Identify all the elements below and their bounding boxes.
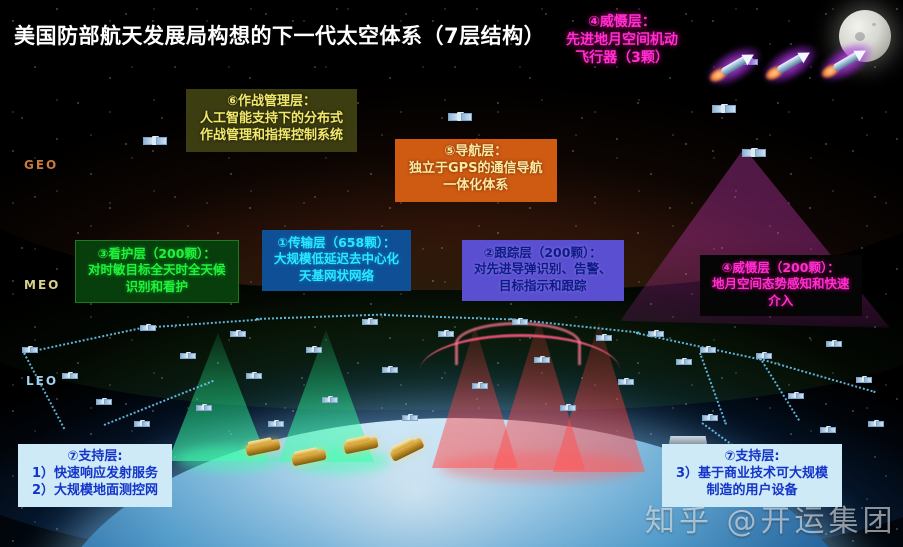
callout-line: 介入 (712, 293, 850, 309)
tracking-ground-glow (440, 452, 640, 482)
satellite-icon (856, 376, 872, 382)
satellite-icon (742, 148, 766, 157)
callout-line: 大规模低延迟去中心化 (274, 251, 399, 267)
callout-battle-management-layer[interactable]: ⑥作战管理层： 人工智能支持下的分布式 作战管理和指挥控制系统 (186, 89, 357, 152)
satellite-icon (322, 396, 338, 402)
callout-line: 一体化体系 (409, 178, 543, 195)
callout-custody-layer[interactable]: ③看护层（200颗）： 对时敏目标全天时全天候 识别和看护 (75, 240, 239, 303)
satellite-icon (246, 372, 262, 378)
callout-heading: ⑦支持层: (32, 449, 158, 466)
satellite-icon (712, 104, 736, 113)
callout-line: 识别和看护 (88, 279, 226, 295)
satellite-icon (868, 420, 884, 426)
callout-heading: ④威慑层（200颗）： (712, 260, 850, 276)
callout-navigation-layer[interactable]: ⑤导航层： 独立于GPS的通信导航 一体化体系 (395, 139, 557, 202)
satellite-icon (196, 404, 212, 410)
satellite-icon (180, 352, 196, 358)
callout-transport-layer[interactable]: ①传输层（658颗）： 大规模低延迟去中心化 天基网状网络 (262, 230, 411, 291)
callout-deterrence-layer-top[interactable]: ④威慑层： 先进地月空间机动 飞行器（3颗） (556, 10, 688, 71)
missile-trajectory-trail-2 (455, 322, 581, 365)
satellite-icon (230, 330, 246, 336)
callout-line: 地月空间态势感知和快速 (712, 276, 850, 292)
satellite-icon (134, 420, 150, 426)
callout-line: 目标指示和跟踪 (474, 278, 612, 294)
orbit-label-geo: GEO (24, 158, 58, 172)
callout-heading: ⑤导航层： (409, 144, 543, 161)
orbit-label-meo: MEO (24, 278, 60, 292)
satellite-icon (472, 382, 488, 388)
satellite-icon (512, 318, 528, 324)
satellite-icon (826, 340, 842, 346)
satellite-icon (676, 358, 692, 364)
callout-line: 独立于GPS的通信导航 (409, 161, 543, 178)
orbit-label-leo: LEO (26, 374, 58, 388)
satellite-icon (788, 392, 804, 398)
satellite-icon (402, 414, 418, 420)
callout-line: 天基网状网络 (274, 268, 399, 284)
satellite-icon (448, 112, 472, 121)
satellite-icon (534, 356, 550, 362)
satellite-icon (268, 420, 284, 426)
callout-line: 2）大规模地面测控网 (32, 483, 158, 500)
callout-tracking-layer[interactable]: ②跟踪层（200颗）： 对先进导弹识别、告警、 目标指示和跟踪 (462, 240, 624, 301)
satellite-icon (560, 404, 576, 410)
satellite-icon (596, 334, 612, 340)
callout-heading: ①传输层（658颗）： (274, 235, 399, 251)
satellite-icon (648, 330, 664, 336)
callout-line: 1）快速响应发射服务 (32, 466, 158, 483)
satellite-icon (756, 352, 772, 358)
callout-line: 飞行器（3颗） (566, 49, 678, 67)
satellite-icon (306, 346, 322, 352)
callout-heading: ④威慑层： (566, 13, 678, 31)
callout-line: 3）基于商业技术可大规模 (676, 466, 828, 483)
satellite-icon (438, 330, 454, 336)
callout-deterrence-layer-right[interactable]: ④威慑层（200颗）： 地月空间态势感知和快速 介入 (700, 255, 862, 316)
satellite-icon (96, 398, 112, 404)
callout-support-layer-left[interactable]: ⑦支持层: 1）快速响应发射服务 2）大规模地面测控网 (18, 444, 172, 507)
satellite-icon (22, 346, 38, 352)
satellite-icon (820, 426, 836, 432)
satellite-icon (382, 366, 398, 372)
satellite-icon (362, 318, 378, 324)
callout-line: 对先进导弹识别、告警、 (474, 261, 612, 277)
callout-line: 人工智能支持下的分布式 (200, 111, 343, 128)
satellite-icon (140, 324, 156, 330)
callout-heading: ②跟踪层（200颗）： (474, 245, 612, 261)
callout-line: 作战管理和指挥控制系统 (200, 128, 343, 145)
page-title: 美国防部航天发展局构想的下一代太空体系（7层结构） (14, 20, 545, 50)
infographic-canvas: 美国防部航天发展局构想的下一代太空体系（7层结构） GEO MEO LEO ⑥作… (0, 0, 903, 547)
satellite-icon (700, 346, 716, 352)
satellite-icon (62, 372, 78, 378)
satellite-icon (618, 378, 634, 384)
watermark: 知乎 @开运集团 (645, 496, 897, 540)
satellite-icon (143, 136, 167, 145)
callout-line: 对时敏目标全天时全天候 (88, 262, 226, 278)
callout-heading: ⑦支持层: (676, 449, 828, 466)
callout-heading: ③看护层（200颗）： (88, 246, 226, 262)
satellite-icon (702, 414, 718, 420)
callout-line: 先进地月空间机动 (566, 31, 678, 49)
callout-heading: ⑥作战管理层： (200, 94, 343, 111)
